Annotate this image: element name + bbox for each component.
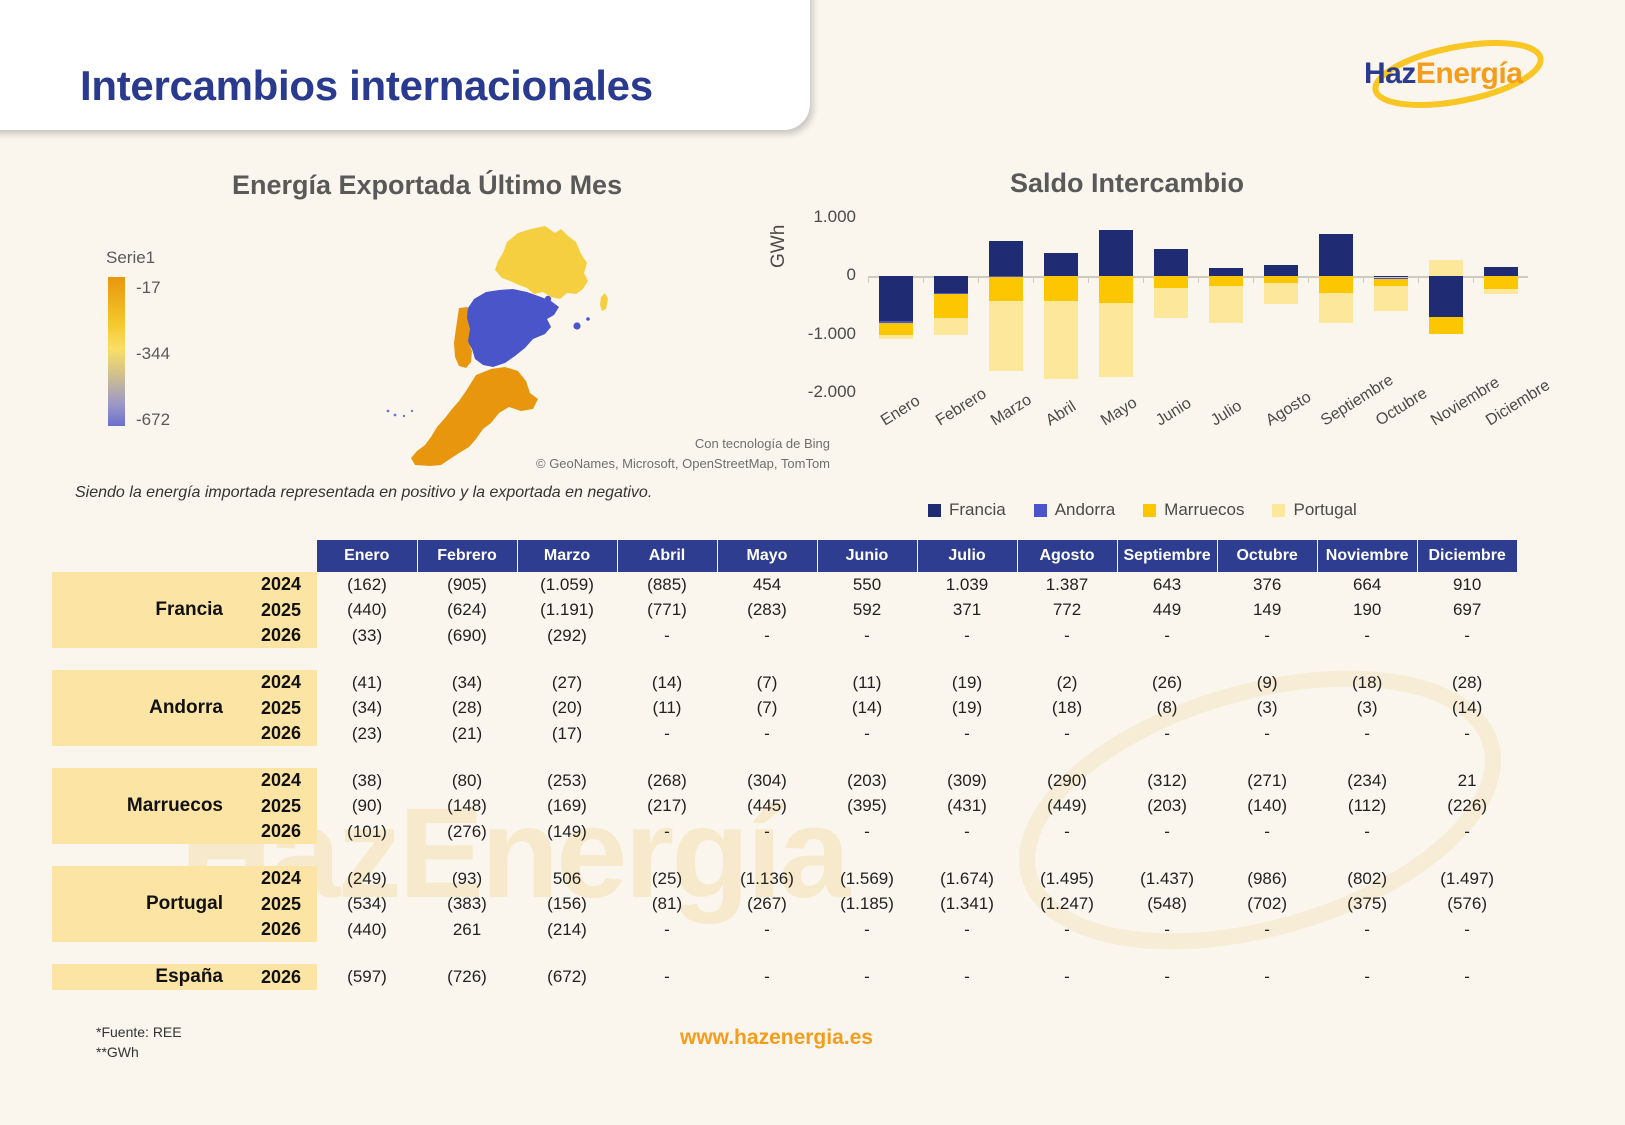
table-cell-value: (1.191) xyxy=(517,597,617,623)
chart-segment-francia[interactable] xyxy=(934,276,968,292)
table-cell-value: - xyxy=(1117,721,1217,746)
table-cell-value: (226) xyxy=(1417,793,1517,819)
chart-segment-portugal[interactable] xyxy=(879,335,913,340)
table-cell-value: - xyxy=(917,721,1017,746)
table-row: Francia2025(440)(624)(1.191)(771)(283)59… xyxy=(52,597,1517,623)
table-year-label: 2026 xyxy=(237,964,317,990)
table-cell-value: - xyxy=(1217,819,1317,844)
table-corner-year xyxy=(237,540,317,572)
table-cell-value: (101) xyxy=(317,819,417,844)
table-col-header-julio: Julio xyxy=(917,540,1017,572)
table-cell-value: (19) xyxy=(917,670,1017,695)
table-cell-value: (431) xyxy=(917,793,1017,819)
map-panel-title: Energía Exportada Último Mes xyxy=(232,170,622,201)
chart-xtick-marzo: Marzo xyxy=(988,391,1035,430)
table-cell-value: (292) xyxy=(517,623,617,648)
table-cell-value: - xyxy=(917,819,1017,844)
table-cell-value: (14) xyxy=(1417,695,1517,721)
table-cell-value: (3) xyxy=(1217,695,1317,721)
table-cell-value: (802) xyxy=(1317,866,1417,891)
table-cell-value: 643 xyxy=(1117,572,1217,597)
table-cell-value: (1.437) xyxy=(1117,866,1217,891)
table-country-label: Portugal xyxy=(52,891,237,917)
chart-axis-tick xyxy=(868,276,869,283)
table-cell-value: (1.185) xyxy=(817,891,917,917)
chart-legend-item-portugal[interactable]: Portugal xyxy=(1272,500,1356,520)
table-cell-value: 772 xyxy=(1017,597,1117,623)
chart-ytick-0: 1.000 xyxy=(784,207,856,227)
table-row: 2026(440)261(214)--------- xyxy=(52,917,1517,942)
chart-legend-item-andorra[interactable]: Andorra xyxy=(1034,500,1115,520)
table-cell-value: (1.136) xyxy=(717,866,817,891)
table-cell-value: (395) xyxy=(817,793,917,819)
table-col-header-mayo: Mayo xyxy=(717,540,817,572)
table-year-label: 2024 xyxy=(237,670,317,695)
iberia-map[interactable] xyxy=(355,215,685,470)
table-row: 2024(41)(34)(27)(14)(7)(11)(19)(2)(26)(9… xyxy=(52,670,1517,695)
table-cell-value: (1.569) xyxy=(817,866,917,891)
table-cell-value: 449 xyxy=(1117,597,1217,623)
chart-title: Saldo Intercambio xyxy=(1010,168,1244,199)
table-row: 2026(101)(276)(149)--------- xyxy=(52,819,1517,844)
table-cell-value: 664 xyxy=(1317,572,1417,597)
table-group-spacer xyxy=(52,746,1517,768)
table-cell-value: (20) xyxy=(517,695,617,721)
chart-axis-tick xyxy=(1473,276,1474,283)
chart-segment-portugal[interactable] xyxy=(1484,289,1518,295)
table-cell-value: (905) xyxy=(417,572,517,597)
chart-segment-francia[interactable] xyxy=(1044,253,1078,276)
table-corner-name xyxy=(52,540,237,572)
chart-xtick-mayo: Mayo xyxy=(1098,394,1141,430)
exchange-data-table: EneroFebreroMarzoAbrilMayoJunioJulioAgos… xyxy=(52,540,1518,990)
table-cell-value: (169) xyxy=(517,793,617,819)
chart-xtick-junio: Junio xyxy=(1153,395,1195,431)
table-cell-value: (34) xyxy=(417,670,517,695)
chart-xtick-enero: Enero xyxy=(878,392,924,430)
table-year-label: 2026 xyxy=(237,623,317,648)
chart-segment-marruecos[interactable] xyxy=(989,277,1023,300)
table-cell-value: 454 xyxy=(717,572,817,597)
table-cell-value: - xyxy=(917,917,1017,942)
table-cell-value: (33) xyxy=(317,623,417,648)
table-cell-value: - xyxy=(717,623,817,648)
chart-bar-mayo[interactable] xyxy=(1099,218,1133,393)
chart-segment-portugal[interactable] xyxy=(1374,286,1408,311)
table-cell-value: - xyxy=(617,623,717,648)
table-group-spacer xyxy=(52,942,1517,964)
legend-label: Francia xyxy=(949,500,1006,520)
table-year-label: 2025 xyxy=(237,597,317,623)
table-cell-value: (267) xyxy=(717,891,817,917)
table-cell-value: - xyxy=(1017,623,1117,648)
table-country-label: Francia xyxy=(52,597,237,623)
map-region-france[interactable] xyxy=(495,226,588,299)
chart-xtick-abril: Abril xyxy=(1043,398,1080,430)
table-col-header-marzo: Marzo xyxy=(517,540,617,572)
table-row: 2024(162)(905)(1.059)(885)4545501.0391.3… xyxy=(52,572,1517,597)
table-cell-value: - xyxy=(1417,623,1517,648)
map-region-morocco[interactable] xyxy=(411,367,538,466)
chart-segment-portugal[interactable] xyxy=(1264,283,1298,305)
map-color-scale xyxy=(108,277,125,426)
chart-axis-tick xyxy=(1033,276,1034,283)
table-country-label xyxy=(52,819,237,844)
table-col-header-septiembre: Septiembre xyxy=(1117,540,1217,572)
table-year-label: 2024 xyxy=(237,572,317,597)
table-cell-value: - xyxy=(817,964,917,990)
map-attribution-line1: Con tecnología de Bing xyxy=(530,434,830,454)
chart-bar-diciembre[interactable] xyxy=(1484,218,1518,393)
table-cell-value: (93) xyxy=(417,866,517,891)
map-region-balearics-2 xyxy=(586,317,590,321)
logo-energia-text: Energía xyxy=(1416,57,1523,90)
legend-swatch-icon xyxy=(1143,504,1156,517)
table-cell-value: (17) xyxy=(517,721,617,746)
table-row: Andorra2025(34)(28)(20)(11)(7)(14)(19)(1… xyxy=(52,695,1517,721)
chart-segment-portugal[interactable] xyxy=(1429,260,1463,276)
chart-segment-francia[interactable] xyxy=(1209,268,1243,277)
table-cell-value: - xyxy=(1217,721,1317,746)
table-cell-value: (203) xyxy=(817,768,917,793)
chart-segment-francia[interactable] xyxy=(879,276,913,321)
footer-source-ree: *Fuente: REE xyxy=(96,1022,182,1042)
table-country-label: España xyxy=(52,964,237,990)
table-cell-value: (18) xyxy=(1317,670,1417,695)
logo-wordmark: HazEnergía xyxy=(1364,57,1522,91)
table-cell-value: (2) xyxy=(1017,670,1117,695)
table-cell-value: - xyxy=(1217,964,1317,990)
table-cell-value: (18) xyxy=(1017,695,1117,721)
map-region-corsica xyxy=(600,293,608,311)
table-cell-value: 592 xyxy=(817,597,917,623)
map-legend-tick-high: -17 xyxy=(136,278,161,298)
map-region-canaries-3 xyxy=(403,415,405,417)
table-cell-value: (156) xyxy=(517,891,617,917)
table-cell-value: (34) xyxy=(317,695,417,721)
table-cell-value: - xyxy=(1317,964,1417,990)
table-country-label xyxy=(52,623,237,648)
chart-bar-octubre[interactable] xyxy=(1374,218,1408,393)
chart-legend-item-marruecos[interactable]: Marruecos xyxy=(1143,500,1244,520)
table-cell-value: (597) xyxy=(317,964,417,990)
table-cell-value: (1.674) xyxy=(917,866,1017,891)
chart-y-axis-label: GWh xyxy=(768,225,790,268)
table-cell-value: - xyxy=(817,917,917,942)
chart-bar-noviembre[interactable] xyxy=(1429,218,1463,393)
chart-legend: FranciaAndorraMarruecosPortugal xyxy=(928,500,1357,520)
table-year-label: 2025 xyxy=(237,793,317,819)
table-cell-value: - xyxy=(1017,721,1117,746)
table-year-label: 2025 xyxy=(237,891,317,917)
table-col-header-abril: Abril xyxy=(617,540,717,572)
table-cell-value: - xyxy=(717,917,817,942)
table-cell-value: - xyxy=(917,623,1017,648)
table-row: 2026(23)(21)(17)--------- xyxy=(52,721,1517,746)
table-cell-value: (14) xyxy=(817,695,917,721)
data-table-wrapper: EneroFebreroMarzoAbrilMayoJunioJulioAgos… xyxy=(52,540,1625,990)
table-cell-value: 371 xyxy=(917,597,1017,623)
table-country-label xyxy=(52,768,237,793)
map-legend-tick-mid: -344 xyxy=(136,344,170,364)
table-cell-value: 697 xyxy=(1417,597,1517,623)
map-legend-title: Serie1 xyxy=(106,248,155,268)
chart-axis-tick xyxy=(1253,276,1254,283)
chart-segment-francia[interactable] xyxy=(989,241,1023,277)
table-year-label: 2026 xyxy=(237,917,317,942)
table-cell-value: (27) xyxy=(517,670,617,695)
chart-segment-marruecos[interactable] xyxy=(1154,276,1188,288)
table-cell-value: 261 xyxy=(417,917,517,942)
table-header-row: EneroFebreroMarzoAbrilMayoJunioJulioAgos… xyxy=(52,540,1517,572)
table-cell-value: - xyxy=(817,819,917,844)
table-body: 2024(162)(905)(1.059)(885)4545501.0391.3… xyxy=(52,572,1517,990)
legend-swatch-icon xyxy=(928,504,941,517)
table-cell-value: (440) xyxy=(317,597,417,623)
chart-xtick-julio: Julio xyxy=(1208,398,1245,431)
table-cell-value: - xyxy=(1017,917,1117,942)
chart-segment-portugal[interactable] xyxy=(989,301,1023,371)
chart-segment-marruecos[interactable] xyxy=(1374,279,1408,286)
table-cell-value: (7) xyxy=(717,695,817,721)
chart-bar-abril[interactable] xyxy=(1044,218,1078,393)
table-cell-value: (268) xyxy=(617,768,717,793)
map-attribution: Con tecnología de Bing © GeoNames, Micro… xyxy=(530,434,830,473)
table-cell-value: (140) xyxy=(1217,793,1317,819)
map-region-balearics xyxy=(573,322,580,329)
table-cell-value: - xyxy=(617,819,717,844)
table-country-label xyxy=(52,670,237,695)
chart-segment-francia[interactable] xyxy=(1099,230,1133,277)
chart-plot-area[interactable] xyxy=(868,218,1528,393)
table-col-header-agosto: Agosto xyxy=(1017,540,1117,572)
table-cell-value: - xyxy=(1317,623,1417,648)
table-cell-value: - xyxy=(817,623,917,648)
page-title: Intercambios internacionales xyxy=(80,62,653,110)
legend-swatch-icon xyxy=(1272,504,1285,517)
chart-segment-portugal[interactable] xyxy=(934,318,968,335)
chart-segment-portugal[interactable] xyxy=(1044,301,1078,379)
table-cell-value: 506 xyxy=(517,866,617,891)
table-cell-value: - xyxy=(1217,917,1317,942)
table-country-label xyxy=(52,721,237,746)
map-region-andorra[interactable] xyxy=(545,296,551,302)
chart-segment-portugal[interactable] xyxy=(1319,293,1353,323)
table-cell-value: - xyxy=(817,721,917,746)
legend-label: Portugal xyxy=(1293,500,1356,520)
table-cell-value: (148) xyxy=(417,793,517,819)
table-cell-value: (234) xyxy=(1317,768,1417,793)
table-col-header-diciembre: Diciembre xyxy=(1417,540,1517,572)
table-cell-value: (771) xyxy=(617,597,717,623)
table-cell-value: - xyxy=(717,721,817,746)
footer-website-url[interactable]: www.hazenergia.es xyxy=(680,1026,873,1050)
table-col-header-febrero: Febrero xyxy=(417,540,517,572)
chart-segment-francia[interactable] xyxy=(1154,249,1188,276)
table-country-label xyxy=(52,917,237,942)
chart-axis-tick xyxy=(1198,276,1199,283)
table-cell-value: (1.247) xyxy=(1017,891,1117,917)
table-cell-value: - xyxy=(1417,819,1517,844)
table-cell-value: - xyxy=(617,917,717,942)
table-cell-value: (885) xyxy=(617,572,717,597)
table-cell-value: (440) xyxy=(317,917,417,942)
table-col-header-enero: Enero xyxy=(317,540,417,572)
table-cell-value: - xyxy=(1117,623,1217,648)
table-col-header-noviembre: Noviembre xyxy=(1317,540,1417,572)
table-cell-value: 376 xyxy=(1217,572,1317,597)
chart-segment-portugal[interactable] xyxy=(1209,286,1243,323)
table-cell-value: (19) xyxy=(917,695,1017,721)
table-cell-value: (312) xyxy=(1117,768,1217,793)
map-attribution-line2: © GeoNames, Microsoft, OpenStreetMap, To… xyxy=(530,454,830,474)
table-cell-value: - xyxy=(1017,964,1117,990)
table-cell-value: (21) xyxy=(417,721,517,746)
table-cell-value: - xyxy=(1317,917,1417,942)
chart-bar-febrero[interactable] xyxy=(934,218,968,393)
chart-axis-tick xyxy=(923,276,924,283)
table-cell-value: (90) xyxy=(317,793,417,819)
map-explanatory-note: Siendo la energía importada representada… xyxy=(75,484,652,502)
table-country-label xyxy=(52,866,237,891)
table-country-label: Andorra xyxy=(52,695,237,721)
chart-ytick-1: 0 xyxy=(784,265,856,285)
chart-ytick-3: -2.000 xyxy=(784,382,856,402)
table-cell-value: (203) xyxy=(1117,793,1217,819)
table-cell-value: (271) xyxy=(1217,768,1317,793)
table-cell-value: (11) xyxy=(617,695,717,721)
chart-segment-francia[interactable] xyxy=(1429,276,1463,316)
table-cell-value: (690) xyxy=(417,623,517,648)
table-year-label: 2026 xyxy=(237,721,317,746)
chart-segment-marruecos[interactable] xyxy=(1429,317,1463,335)
table-group-spacer xyxy=(52,844,1517,866)
table-cell-value: (986) xyxy=(1217,866,1317,891)
chart-axis-tick xyxy=(1418,276,1419,283)
chart-segment-marruecos[interactable] xyxy=(1099,276,1133,302)
table-cell-value: 149 xyxy=(1217,597,1317,623)
table-cell-value: (534) xyxy=(317,891,417,917)
table-year-label: 2025 xyxy=(237,695,317,721)
footer-source-gwh: **GWh xyxy=(96,1042,182,1062)
chart-xtick-agosto: Agosto xyxy=(1263,389,1315,431)
chart-legend-item-francia[interactable]: Francia xyxy=(928,500,1006,520)
chart-segment-portugal[interactable] xyxy=(1154,288,1188,318)
table-cell-value: (11) xyxy=(817,670,917,695)
table-cell-value: (25) xyxy=(617,866,717,891)
map-region-canaries-1 xyxy=(387,410,390,413)
table-group-spacer xyxy=(52,648,1517,670)
table-cell-value: - xyxy=(1417,917,1517,942)
chart-segment-francia[interactable] xyxy=(1264,265,1298,276)
table-cell-value: (80) xyxy=(417,768,517,793)
table-cell-value: (375) xyxy=(1317,891,1417,917)
table-year-label: 2024 xyxy=(237,768,317,793)
chart-segment-marruecos[interactable] xyxy=(1044,276,1078,301)
table-cell-value: (276) xyxy=(417,819,517,844)
table-cell-value: (217) xyxy=(617,793,717,819)
table-cell-value: (1.341) xyxy=(917,891,1017,917)
chart-bar-junio[interactable] xyxy=(1154,218,1188,393)
chart-bar-agosto[interactable] xyxy=(1264,218,1298,393)
chart-bar-septiembre[interactable] xyxy=(1319,218,1353,393)
table-cell-value: - xyxy=(717,819,817,844)
table-col-header-junio: Junio xyxy=(817,540,917,572)
chart-bar-marzo[interactable] xyxy=(989,218,1023,393)
chart-segment-marruecos[interactable] xyxy=(879,323,913,335)
table-cell-value: (283) xyxy=(717,597,817,623)
table-cell-value: (41) xyxy=(317,670,417,695)
legend-label: Andorra xyxy=(1055,500,1115,520)
table-cell-value: (304) xyxy=(717,768,817,793)
map-region-canaries-2 xyxy=(394,414,397,417)
table-year-label: 2024 xyxy=(237,866,317,891)
table-row: Portugal2025(534)(383)(156)(81)(267)(1.1… xyxy=(52,891,1517,917)
table-country-label xyxy=(52,572,237,597)
chart-axis-tick xyxy=(1143,276,1144,283)
chart-segment-francia[interactable] xyxy=(1484,267,1518,276)
table-country-label: Marruecos xyxy=(52,793,237,819)
chart-bar-enero[interactable] xyxy=(879,218,913,393)
table-cell-value: (38) xyxy=(317,768,417,793)
table-cell-value: - xyxy=(1217,623,1317,648)
table-cell-value: 1.387 xyxy=(1017,572,1117,597)
table-cell-value: (149) xyxy=(517,819,617,844)
map-legend-tick-low: -672 xyxy=(136,410,170,430)
table-row: Marruecos2025(90)(148)(169)(217)(445)(39… xyxy=(52,793,1517,819)
chart-segment-portugal[interactable] xyxy=(1099,303,1133,378)
chart-segment-marruecos[interactable] xyxy=(1319,276,1353,292)
table-cell-value: (214) xyxy=(517,917,617,942)
table-cell-value: - xyxy=(1417,964,1517,990)
table-cell-value: (1.495) xyxy=(1017,866,1117,891)
table-cell-value: (253) xyxy=(517,768,617,793)
table-cell-value: (81) xyxy=(617,891,717,917)
chart-axis-tick xyxy=(1363,276,1364,283)
chart-segment-marruecos[interactable] xyxy=(1484,276,1518,288)
table-cell-value: - xyxy=(1117,917,1217,942)
table-cell-value: (445) xyxy=(717,793,817,819)
legend-swatch-icon xyxy=(1034,504,1047,517)
table-cell-value: (28) xyxy=(1417,670,1517,695)
chart-ytick-2: -1.000 xyxy=(784,324,856,344)
chart-segment-marruecos[interactable] xyxy=(1209,276,1243,285)
table-cell-value: (290) xyxy=(1017,768,1117,793)
chart-bar-julio[interactable] xyxy=(1209,218,1243,393)
table-cell-value: - xyxy=(617,721,717,746)
table-cell-value: (726) xyxy=(417,964,517,990)
table-cell-value: - xyxy=(1017,819,1117,844)
table-cell-value: - xyxy=(1317,819,1417,844)
table-cell-value: - xyxy=(917,964,1017,990)
table-cell-value: (249) xyxy=(317,866,417,891)
table-cell-value: (23) xyxy=(317,721,417,746)
chart-segment-marruecos[interactable] xyxy=(934,294,968,318)
table-cell-value: (9) xyxy=(1217,670,1317,695)
logo-haz-text: Haz xyxy=(1364,57,1416,90)
map-region-spain[interactable] xyxy=(465,289,559,367)
dashboard-root: HazEnergía Intercambios internacionales … xyxy=(0,0,1625,1125)
table-cell-value: (576) xyxy=(1417,891,1517,917)
table-cell-value: - xyxy=(1117,964,1217,990)
table-cell-value: (702) xyxy=(1217,891,1317,917)
table-cell-value: 910 xyxy=(1417,572,1517,597)
chart-axis-tick xyxy=(1088,276,1089,283)
chart-segment-francia[interactable] xyxy=(1319,234,1353,276)
table-cell-value: - xyxy=(1317,721,1417,746)
footer-sources: *Fuente: REE **GWh xyxy=(96,1022,182,1063)
table-cell-value: (624) xyxy=(417,597,517,623)
